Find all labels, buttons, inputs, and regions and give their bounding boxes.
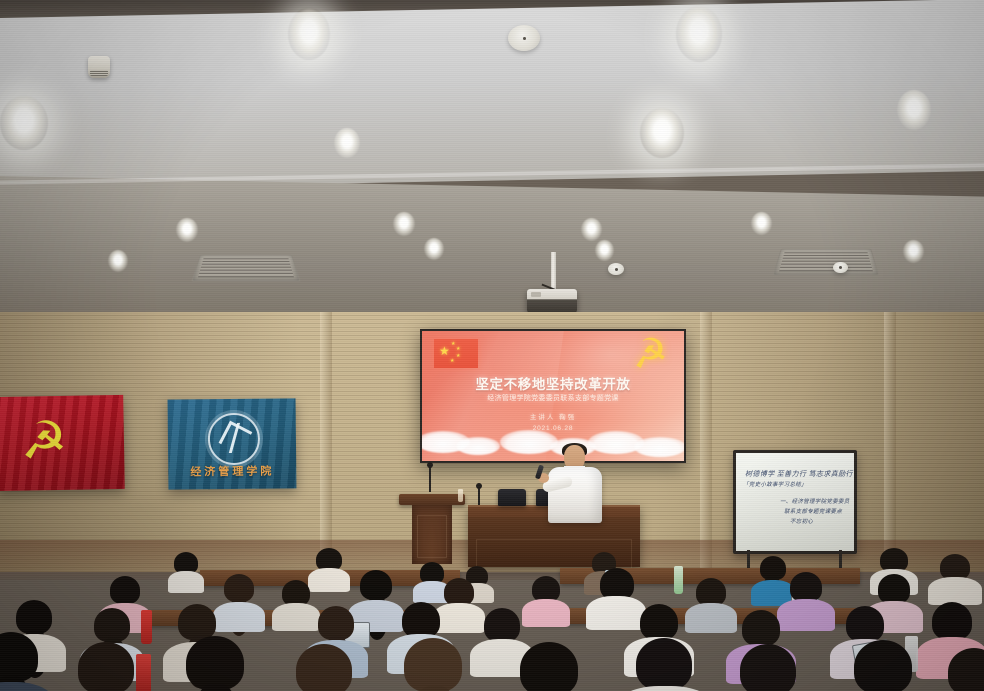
party-emblem-icon: ☭ [628,333,672,377]
flag-star: ★ [451,342,455,347]
flag-star: ★ [456,354,460,359]
person-hair [854,640,912,691]
person-hair [94,608,130,642]
person-shoulders [0,682,58,691]
downlight-icon [676,6,722,62]
water-bottle [674,566,683,594]
wall-pillar [884,312,896,572]
person-hair [78,642,134,691]
presenter [540,445,612,523]
hammer-sickle-icon: ☭ [18,416,71,469]
microphone-head-icon [476,483,482,489]
person-hair [790,572,822,602]
person-hair [16,600,52,634]
slide-date: 2021.06.28 [422,425,684,432]
whiteboard-line: 树德博学 至善力行 笃志求真励行 [745,469,853,479]
microphone-stand [429,466,431,492]
downlight-icon [581,218,602,241]
downlight-icon [751,212,772,235]
person-hair [878,574,910,604]
slide-cloud [456,437,500,455]
college-flag-text: 经济管理学院 [168,462,296,479]
downlight-icon [288,8,330,60]
downlight-icon [176,218,198,242]
person-shoulders [272,603,320,631]
flag-star: ★ [439,345,450,357]
person-shoulders [308,568,350,592]
person-shoulders [586,596,646,630]
water-bottle [136,654,151,691]
water-bottle [141,610,152,644]
person-hair [520,642,578,691]
downlight-icon [903,240,924,263]
smoke-detector-icon [833,262,848,273]
downlight-icon [897,90,931,130]
downlight-icon [595,240,614,261]
stage-chair [498,489,526,506]
slide-title: 坚定不移地坚持改革开放 [422,373,684,393]
lecture-hall-photo: ★ ★ ★ ★ ★ ☭ 坚定不移地坚持改革开放 经济管理学院党委委员联系支部专题… [0,0,984,691]
person-hair [186,636,244,690]
microphone-head-icon [427,462,433,468]
person-shoulders [213,602,265,632]
person-hair [318,606,354,640]
person-hair [444,578,474,606]
ceiling-speaker-icon [88,56,110,78]
chinese-national-flag-icon: ★ ★ ★ ★ ★ [434,339,478,368]
person-hair [484,608,520,642]
downlight-icon [108,250,128,272]
person-hair [636,638,692,690]
person-hair [404,638,462,691]
slide-cloud [634,437,684,457]
person-hair [402,602,440,638]
ceiling-upper-plane [0,0,984,190]
whiteboard: 树德博学 至善力行 笃志求真励行 「党史小故事学习总结」 一、经济管理学院党委委… [733,450,857,554]
college-flag: 经济管理学院 [168,398,297,489]
whiteboard-line: 联系支部专题党课要点 [784,507,842,515]
person-hair [846,606,884,642]
person-hair [296,644,352,691]
person-hair [696,578,726,606]
downlight-icon [334,128,360,158]
water-bottle [458,489,463,502]
smoke-detector-icon [608,263,624,275]
person-hair [640,604,678,640]
whiteboard-line: 一、经济管理学院党委委员 [780,497,850,505]
flag-star: ★ [450,359,454,364]
person-shoulders [522,599,570,627]
person-shoulders [433,603,485,633]
audience-area [0,548,984,691]
person-hair [742,610,780,646]
person-shoulders [777,599,835,631]
whiteboard-line: 不忘初心 [790,517,813,525]
air-vent [191,255,300,282]
person-shoulders [168,571,204,593]
slide-subtitle: 经济管理学院党委委员联系支部专题党课 [422,393,684,403]
air-vent [772,249,879,276]
wall-pillar [700,312,712,572]
college-emblem-icon [208,413,261,466]
ceiling-projector [527,289,577,313]
downlight-icon [424,238,444,260]
person-shoulders [928,577,982,605]
flag-star: ★ [456,347,460,352]
person-shoulders [685,603,737,633]
downlight-icon [0,96,48,150]
person-hair [740,644,796,691]
projection-screen: ★ ★ ★ ★ ★ ☭ 坚定不移地坚持改革开放 经济管理学院党委委员联系支部专题… [420,329,686,463]
smoke-detector-icon [508,25,540,51]
whiteboard-line: 「党史小故事学习总结」 [743,480,807,488]
cpc-party-flag: ☭ [0,395,125,491]
slide-presenter: 主讲人 鞠强 [422,411,684,421]
person-hair [932,602,972,640]
person-hair [178,604,216,640]
wall-pillar [320,312,332,572]
downlight-icon [393,212,415,236]
lectern-top [399,494,465,505]
downlight-icon [640,108,684,158]
person-shoulders [612,686,718,691]
presenter-shirt [548,467,602,523]
